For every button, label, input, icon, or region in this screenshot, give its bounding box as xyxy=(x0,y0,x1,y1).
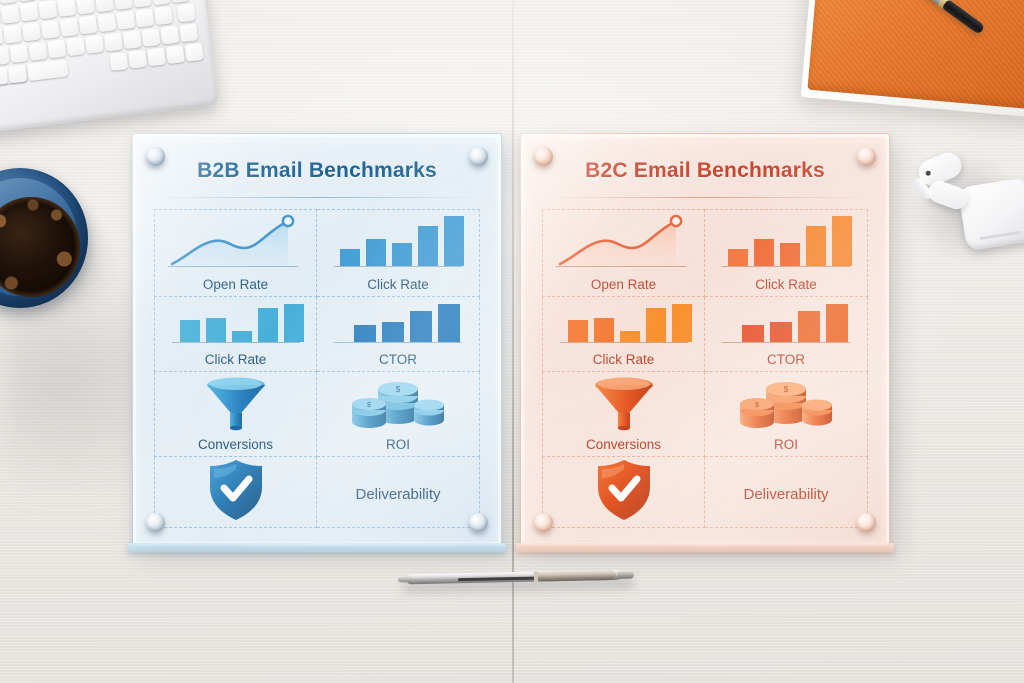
open-rate-line-chart xyxy=(155,210,316,272)
coins-icon: $ $ xyxy=(705,372,867,432)
shield-check-icon xyxy=(543,457,704,523)
desk-pen-band xyxy=(534,572,538,582)
cell-b2c-deliverability-label[interactable]: Deliverability xyxy=(705,457,868,528)
cell-label: ROI xyxy=(774,437,798,452)
cell-b2b-click-rate-top[interactable]: Click Rate xyxy=(317,209,480,297)
screw-top-right xyxy=(469,147,488,166)
keyboard-key xyxy=(97,13,116,32)
keyboard-key xyxy=(114,0,133,10)
keyboard-key xyxy=(3,25,22,44)
cell-b2c-roi[interactable]: $ $ xyxy=(705,372,868,457)
screw-top-left xyxy=(534,147,553,166)
cell-b2c-conversions[interactable]: Conversions xyxy=(542,372,705,457)
keyboard-key xyxy=(128,50,147,69)
coffee-liquid xyxy=(0,197,80,297)
cell-b2c-click-rate-mid[interactable]: Click Rate xyxy=(542,297,705,372)
screw-top-right xyxy=(857,147,876,166)
keyboard-key xyxy=(123,30,142,49)
panel-b2b-title: B2B Email Benchmarks xyxy=(132,159,502,183)
funnel-icon xyxy=(155,372,316,432)
keyboard-key xyxy=(104,33,123,52)
click-rate-bar-chart xyxy=(705,210,867,272)
keyboard-key xyxy=(152,0,171,5)
desk-pen-cap xyxy=(618,571,634,578)
earbuds-case-seam xyxy=(979,231,1021,241)
cell-b2b-open-rate[interactable]: Open Rate xyxy=(154,209,317,297)
cell-b2c-open-rate[interactable]: Open Rate xyxy=(542,209,705,297)
cell-label: Deliverability xyxy=(355,486,440,503)
cell-b2b-conversions[interactable]: Conversions xyxy=(154,372,317,457)
cell-b2b-roi[interactable]: $ $ xyxy=(317,372,480,457)
earbud-mic-dot xyxy=(925,170,932,177)
screw-top-left xyxy=(146,147,165,166)
keyboard-key xyxy=(95,0,114,12)
mug-rim xyxy=(0,178,77,296)
keyboard-key xyxy=(160,26,179,45)
panel-b2b-grid: Open Rate Click Rate xyxy=(154,209,480,518)
panel-b2c[interactable]: B2C Email Benchmarks Open Ra xyxy=(520,133,890,546)
cell-b2b-deliverability-icon[interactable] xyxy=(154,457,317,528)
keyboard-key xyxy=(0,0,17,4)
keyboard-key xyxy=(66,37,85,56)
cell-b2b-ctor[interactable]: CTOR xyxy=(317,297,480,372)
cell-label: Conversions xyxy=(198,437,273,452)
keyboard-key xyxy=(57,0,76,17)
keyboard-key xyxy=(0,46,10,65)
svg-text:$: $ xyxy=(367,402,371,409)
cell-label: Click Rate xyxy=(755,277,817,292)
cell-label: ROI xyxy=(386,437,410,452)
keyboard-key xyxy=(166,45,185,64)
cell-b2c-click-rate-top[interactable]: Click Rate xyxy=(705,209,868,297)
keyboard-key xyxy=(109,52,128,71)
cell-label: Open Rate xyxy=(591,277,656,292)
click-rate-bar-chart-dip xyxy=(155,297,316,347)
cell-label: Conversions xyxy=(586,437,661,452)
screw-bottom-left xyxy=(534,513,553,532)
keyboard-key xyxy=(179,23,198,42)
keyboard-key xyxy=(85,35,104,54)
screw-bottom-right xyxy=(469,513,488,532)
keyboard-key xyxy=(76,0,95,15)
keyboard-key xyxy=(41,20,60,39)
keyboard-key xyxy=(133,0,152,8)
keyboard-key xyxy=(8,64,27,83)
cell-label: Click Rate xyxy=(367,277,429,292)
panel-b2c-bottom-edge xyxy=(516,543,894,552)
panel-b2c-title-rule xyxy=(538,197,872,198)
svg-text:$: $ xyxy=(784,385,789,394)
shield-check-icon xyxy=(155,457,316,523)
click-rate-bar-chart-dip xyxy=(543,297,704,347)
cell-label: Deliverability xyxy=(743,486,828,503)
coins-icon: $ $ xyxy=(317,372,479,432)
keyboard-key xyxy=(47,39,66,58)
earbuds-case xyxy=(957,177,1024,251)
keyboard-key xyxy=(38,0,57,19)
panel-b2b-title-rule xyxy=(150,197,484,198)
panel-b2b-bottom-edge xyxy=(128,543,506,552)
keyboard-key xyxy=(177,3,196,22)
open-rate-line-chart xyxy=(543,210,704,272)
panel-b2c-title: B2C Email Benchmarks xyxy=(520,159,890,183)
click-rate-bar-chart xyxy=(317,210,479,272)
panel-b2b[interactable]: B2B Email Benchmarks Op xyxy=(132,133,502,546)
keyboard-key xyxy=(135,9,154,28)
keyboard-key xyxy=(116,11,135,30)
keyboard-key xyxy=(1,5,20,24)
cell-b2b-click-rate-mid[interactable]: Click Rate xyxy=(154,297,317,372)
cell-b2b-deliverability-label[interactable]: Deliverability xyxy=(317,457,480,528)
cell-label: CTOR xyxy=(767,352,805,367)
keyboard-key xyxy=(185,43,204,62)
cell-label: Click Rate xyxy=(205,352,267,367)
coffee-crema xyxy=(0,197,80,297)
keyboard-key xyxy=(17,0,36,2)
keyboard-key xyxy=(22,22,41,41)
ctor-bar-chart xyxy=(705,297,867,347)
notebook xyxy=(807,0,1024,116)
cell-label: Click Rate xyxy=(593,352,655,367)
screw-bottom-left xyxy=(146,513,165,532)
svg-text:$: $ xyxy=(755,402,759,409)
keyboard-key xyxy=(60,18,79,37)
keyboard-key xyxy=(147,47,166,66)
keyboard-key xyxy=(142,28,161,47)
ctor-bar-chart xyxy=(317,297,479,347)
keyboard-key xyxy=(10,44,29,63)
svg-text:$: $ xyxy=(396,385,401,394)
cell-label: Open Rate xyxy=(203,277,268,292)
keyboard-key xyxy=(154,6,173,25)
desk-pen-barrel-rear xyxy=(538,570,616,582)
cell-b2c-ctor[interactable]: CTOR xyxy=(705,297,868,372)
keyboard-key xyxy=(27,59,69,81)
desk-pen-tip xyxy=(398,576,412,582)
keyboard-key xyxy=(28,42,47,61)
cell-b2c-deliverability-icon[interactable] xyxy=(542,457,705,528)
earbuds xyxy=(906,140,1024,260)
coffee-mug xyxy=(0,168,110,333)
panel-b2c-grid: Open Rate Click Rate xyxy=(542,209,868,518)
screw-bottom-right xyxy=(857,513,876,532)
funnel-icon xyxy=(543,372,704,432)
keyboard-key xyxy=(20,3,39,22)
cell-label: CTOR xyxy=(379,352,417,367)
keyboard-key xyxy=(170,0,189,3)
keyboard-key xyxy=(79,16,98,35)
